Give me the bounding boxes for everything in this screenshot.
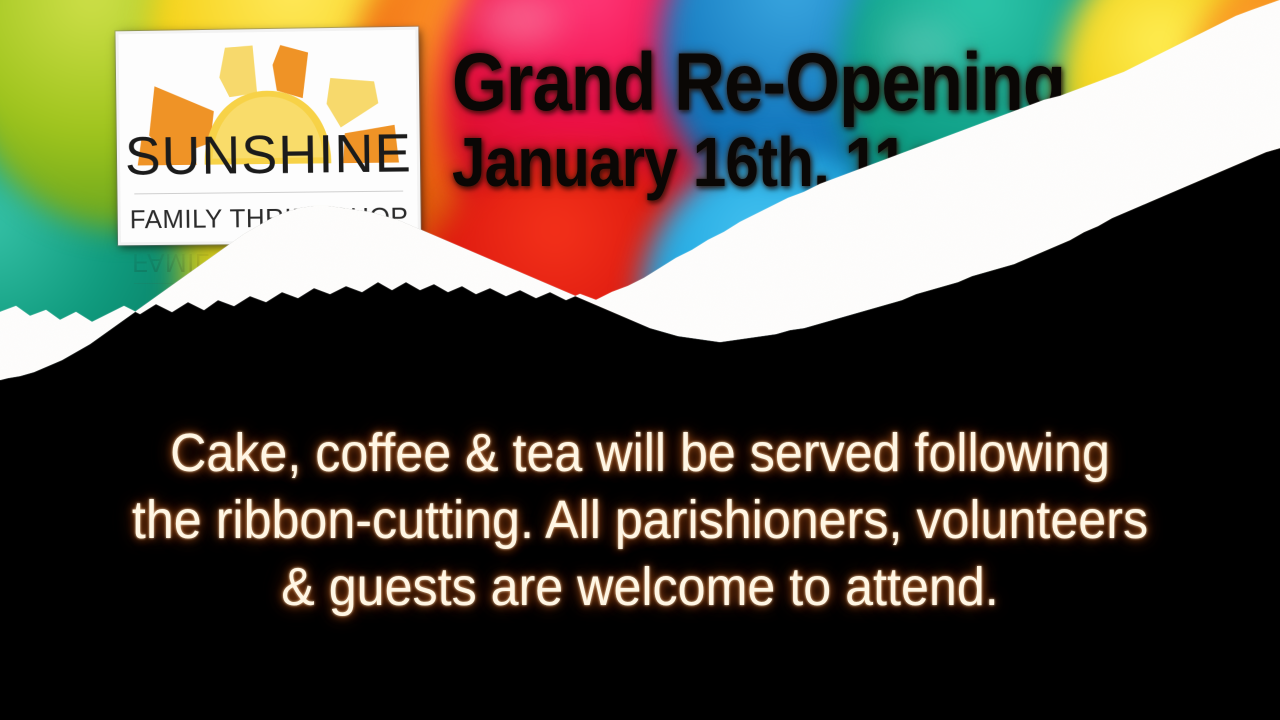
logo-brand-sub: FAMILY THRIFT SHOP [121, 201, 418, 235]
headline-block: Grand Re-Opening January 16th, 11am [452, 44, 1054, 196]
logo-divider [134, 191, 403, 195]
logo-brand-main: SUNSHINE [120, 126, 418, 183]
body-copy: Cake, coffee & tea will be served follow… [129, 420, 1152, 621]
logo-card-face: SUNSHINE FAMILY THRIFT SHOP [115, 27, 420, 246]
sunshine-logo-card: SUNSHINE FAMILY THRIFT SHOP [116, 29, 419, 244]
event-announcement-slide: SUNSHINE FAMILY THRIFT SHOP [0, 0, 1280, 720]
balloon-shadow-a [1130, 150, 1176, 210]
headline-line-2: January 16th, 11am [452, 129, 1054, 196]
balloon-shadow-c [700, 300, 770, 370]
balloon-shadow-b [1190, 230, 1236, 286]
headline-line-1: Grand Re-Opening [452, 44, 1054, 123]
